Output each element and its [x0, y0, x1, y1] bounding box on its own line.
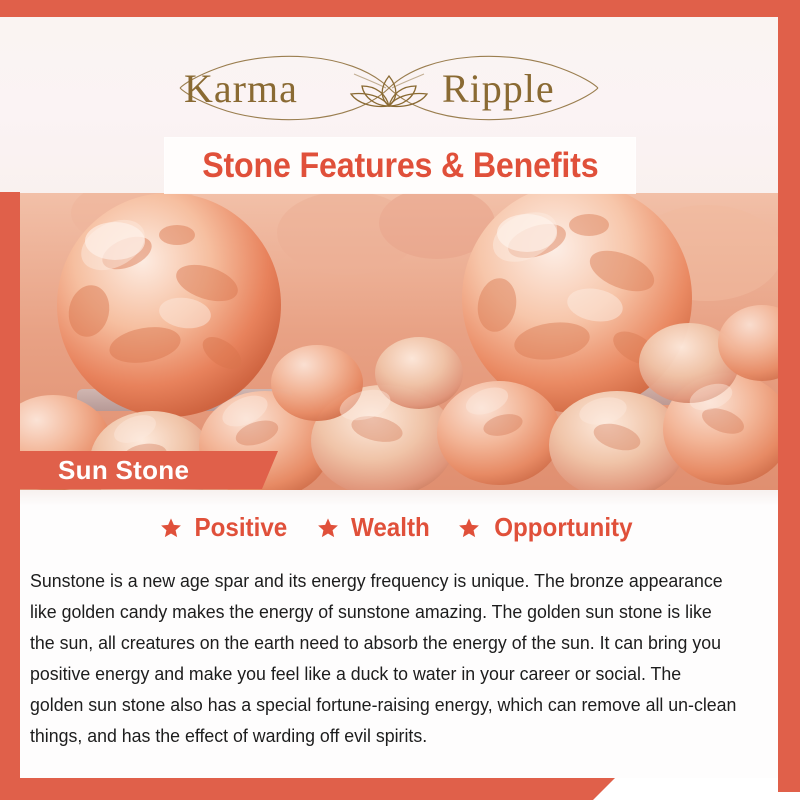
benefit-label-positive: Positive: [194, 512, 287, 543]
page-title: Stone Features & Benefits: [202, 146, 598, 186]
benefit-label-wealth: Wealth: [351, 512, 430, 543]
frame-border-left: [0, 192, 20, 792]
sunstone-sphere-left: [57, 193, 281, 417]
benefit-item-opportunity: Opportunity: [458, 512, 638, 543]
product-infographic-poster: Karma Ripple Stone Features & Benefits: [0, 0, 800, 800]
benefits-row: Positive Wealth Opportunity: [20, 512, 778, 543]
stone-description: Sunstone is a new age spar and its energ…: [30, 565, 737, 751]
stone-photo-artwork: [17, 193, 778, 490]
star-icon: [458, 517, 480, 539]
stone-name-ribbon: Sun Stone: [0, 451, 278, 489]
brand-logo: Karma Ripple: [0, 43, 778, 133]
frame-border-bottom: [0, 778, 615, 800]
logo-artwork: Karma Ripple: [154, 44, 624, 132]
logo-word-karma: Karma: [184, 66, 298, 111]
star-icon: [317, 517, 339, 539]
benefit-item-wealth: Wealth: [317, 512, 433, 543]
logo-word-ripple: Ripple: [442, 66, 555, 111]
frame-border-top: [0, 0, 800, 17]
star-icon: [160, 517, 182, 539]
stone-photo: [17, 193, 778, 490]
benefit-item-positive: Positive: [160, 512, 291, 543]
frame-border-right: [778, 0, 800, 792]
content-panel: Positive Wealth Opportunity Sunstone is …: [20, 490, 778, 778]
lotus-icon: [351, 76, 427, 107]
stone-name-label: Sun Stone: [0, 455, 189, 486]
benefit-label-opportunity: Opportunity: [495, 512, 633, 543]
section-title-band: Stone Features & Benefits: [165, 138, 635, 193]
panel-top-fade: [20, 490, 778, 506]
